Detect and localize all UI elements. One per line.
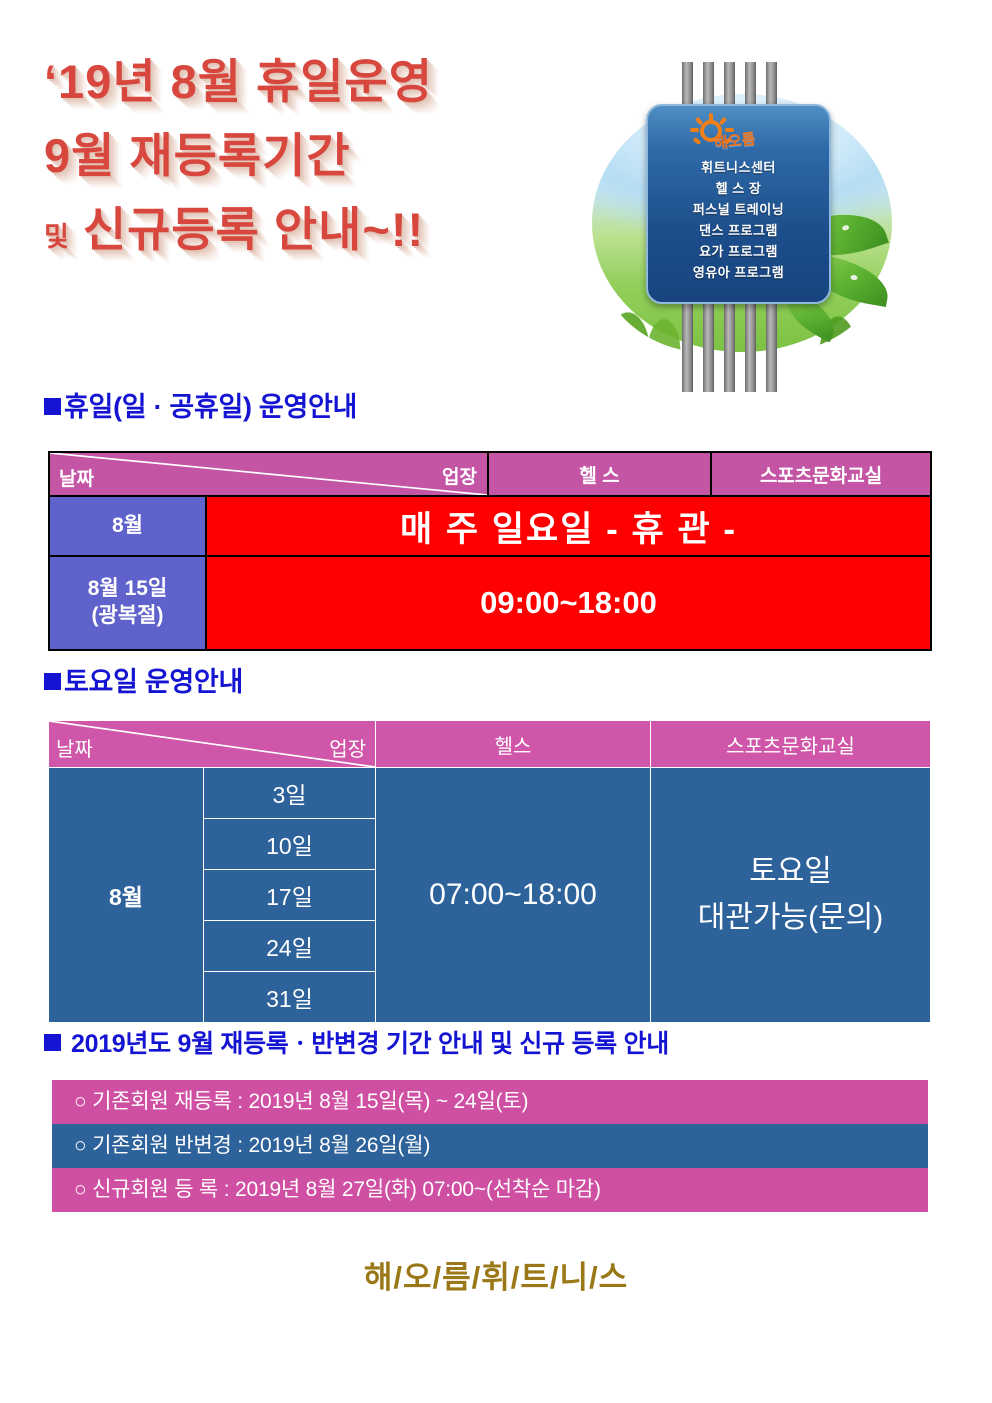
- section-heading-saturday: 토요일 운영안내: [44, 660, 243, 699]
- section-heading-registration: 2019년도 9월 재등록ㆍ반변경 기간 안내 및 신규 등록 안내: [44, 1024, 669, 1060]
- diagonal-divider-icon: [50, 453, 487, 495]
- cell-month-august: 8월: [49, 496, 206, 556]
- table-header-row: 날짜 업장 헬스 스포츠문화교실: [49, 721, 931, 768]
- sign-line-4: 댄스 프로그램: [648, 220, 829, 241]
- title-line-3-prefix: 및: [44, 222, 69, 252]
- fitness-center-sign-illustration: 해오름 휘트니스센터 헬 스 장 퍼스널 트레이닝 댄스 프로그램 요가 프로그…: [592, 62, 892, 392]
- closed-notice-text: 매 주 일요일 - 휴 관 -: [400, 510, 737, 549]
- title-line-3-main: 신규등록 안내~!!: [83, 203, 424, 256]
- sign-line-3: 퍼스널 트레이닝: [648, 199, 829, 220]
- footer-brand-name: 해/오/름/휘/트/니/스: [0, 1252, 992, 1297]
- cell-liberation-day-hours: 09:00~18:00: [206, 556, 931, 650]
- cell-day: 31일: [204, 972, 376, 1023]
- cell-health-hours: 07:00~18:00: [376, 768, 651, 1023]
- sign-line-2: 헬 스 장: [648, 178, 829, 199]
- liberation-day-hours-text: 09:00~18:00: [480, 585, 657, 620]
- header-label-date: 날짜: [56, 733, 93, 762]
- brand-wordmark: 해오름: [712, 128, 756, 154]
- saturday-schedule-table: 날짜 업장 헬스 스포츠문화교실 8월 3일 07:00~18:00 토요일 대…: [48, 720, 931, 1023]
- header-cell-health: 헬 스: [488, 452, 711, 496]
- header-cell-date-facility: 날짜 업장: [49, 721, 376, 768]
- title-line-3: 및 신규등록 안내~!!: [44, 206, 604, 253]
- sun-icon: 해오름: [684, 116, 794, 156]
- section-heading-holiday: 휴일(일 · 공휴일) 운영안내: [44, 385, 357, 424]
- cell-liberation-day-line1: 8월 15일: [51, 576, 204, 603]
- cell-day: 17일: [204, 870, 376, 921]
- section-heading-holiday-label: 휴일(일 · 공휴일) 운영안내: [64, 392, 357, 422]
- header-label-facility: 업장: [442, 462, 477, 489]
- cell-liberation-day: 8월 15일 (광복절): [49, 556, 206, 650]
- header-label-date: 날짜: [59, 464, 94, 491]
- registration-info-row: ○ 신규회원 등 록 : 2019년 8월 27일(화) 07:00~(선착순 …: [52, 1168, 928, 1212]
- cell-day: 24일: [204, 921, 376, 972]
- square-bullet-icon: [44, 673, 61, 690]
- cell-month-august: 8월: [49, 768, 204, 1023]
- cell-day: 3일: [204, 768, 376, 819]
- section-heading-saturday-label: 토요일 운영안내: [64, 667, 243, 697]
- header-cell-sports: 스포츠문화교실: [711, 452, 931, 496]
- title-line-1: ‘19년 8월 휴일운영: [44, 58, 604, 105]
- poster-title-block: ‘19년 8월 휴일운영 9월 재등록기간 및 신규등록 안내~!!: [44, 58, 604, 253]
- sign-board: 해오름 휘트니스센터 헬 스 장 퍼스널 트레이닝 댄스 프로그램 요가 프로그…: [646, 104, 831, 304]
- sign-line-6: 영유아 프로그램: [648, 262, 829, 283]
- square-bullet-icon: [44, 398, 61, 415]
- cell-closed-notice: 매 주 일요일 - 휴 관 -: [206, 496, 931, 556]
- title-line-2: 9월 재등록기간: [44, 132, 604, 179]
- sign-line-1: 휘트니스센터: [648, 157, 829, 178]
- diagonal-divider-icon: [49, 721, 375, 767]
- square-bullet-icon: [44, 1034, 61, 1051]
- header-cell-sports: 스포츠문화교실: [651, 721, 931, 768]
- sign-line-5: 요가 프로그램: [648, 241, 829, 262]
- cell-liberation-day-line2: (광복절): [51, 603, 204, 630]
- registration-info-row: ○ 기존회원 반변경 : 2019년 8월 26일(월): [52, 1124, 928, 1168]
- holiday-schedule-table: 날짜 업장 헬 스 스포츠문화교실 8월 매 주 일요일 - 휴 관 - 8월 …: [48, 451, 932, 651]
- header-cell-date-facility: 날짜 업장: [49, 452, 488, 496]
- header-label-facility: 업장: [329, 733, 366, 762]
- table-row: 8월 3일 07:00~18:00 토요일 대관가능(문의): [49, 768, 931, 819]
- cell-day: 10일: [204, 819, 376, 870]
- header-cell-health: 헬스: [376, 721, 651, 768]
- table-row: 8월 15일 (광복절) 09:00~18:00: [49, 556, 931, 650]
- cell-sports-rental: 토요일 대관가능(문의): [651, 768, 931, 1023]
- table-row: 8월 매 주 일요일 - 휴 관 -: [49, 496, 931, 556]
- sports-rental-line2: 대관가능(문의): [652, 895, 929, 942]
- sports-rental-line1: 토요일: [652, 849, 929, 896]
- section-heading-registration-label: 2019년도 9월 재등록ㆍ반변경 기간 안내 및 신규 등록 안내: [71, 1030, 669, 1058]
- table-header-row: 날짜 업장 헬 스 스포츠문화교실: [49, 452, 931, 496]
- registration-info-row: ○ 기존회원 재등록 : 2019년 8월 15일(목) ~ 24일(토): [52, 1080, 928, 1124]
